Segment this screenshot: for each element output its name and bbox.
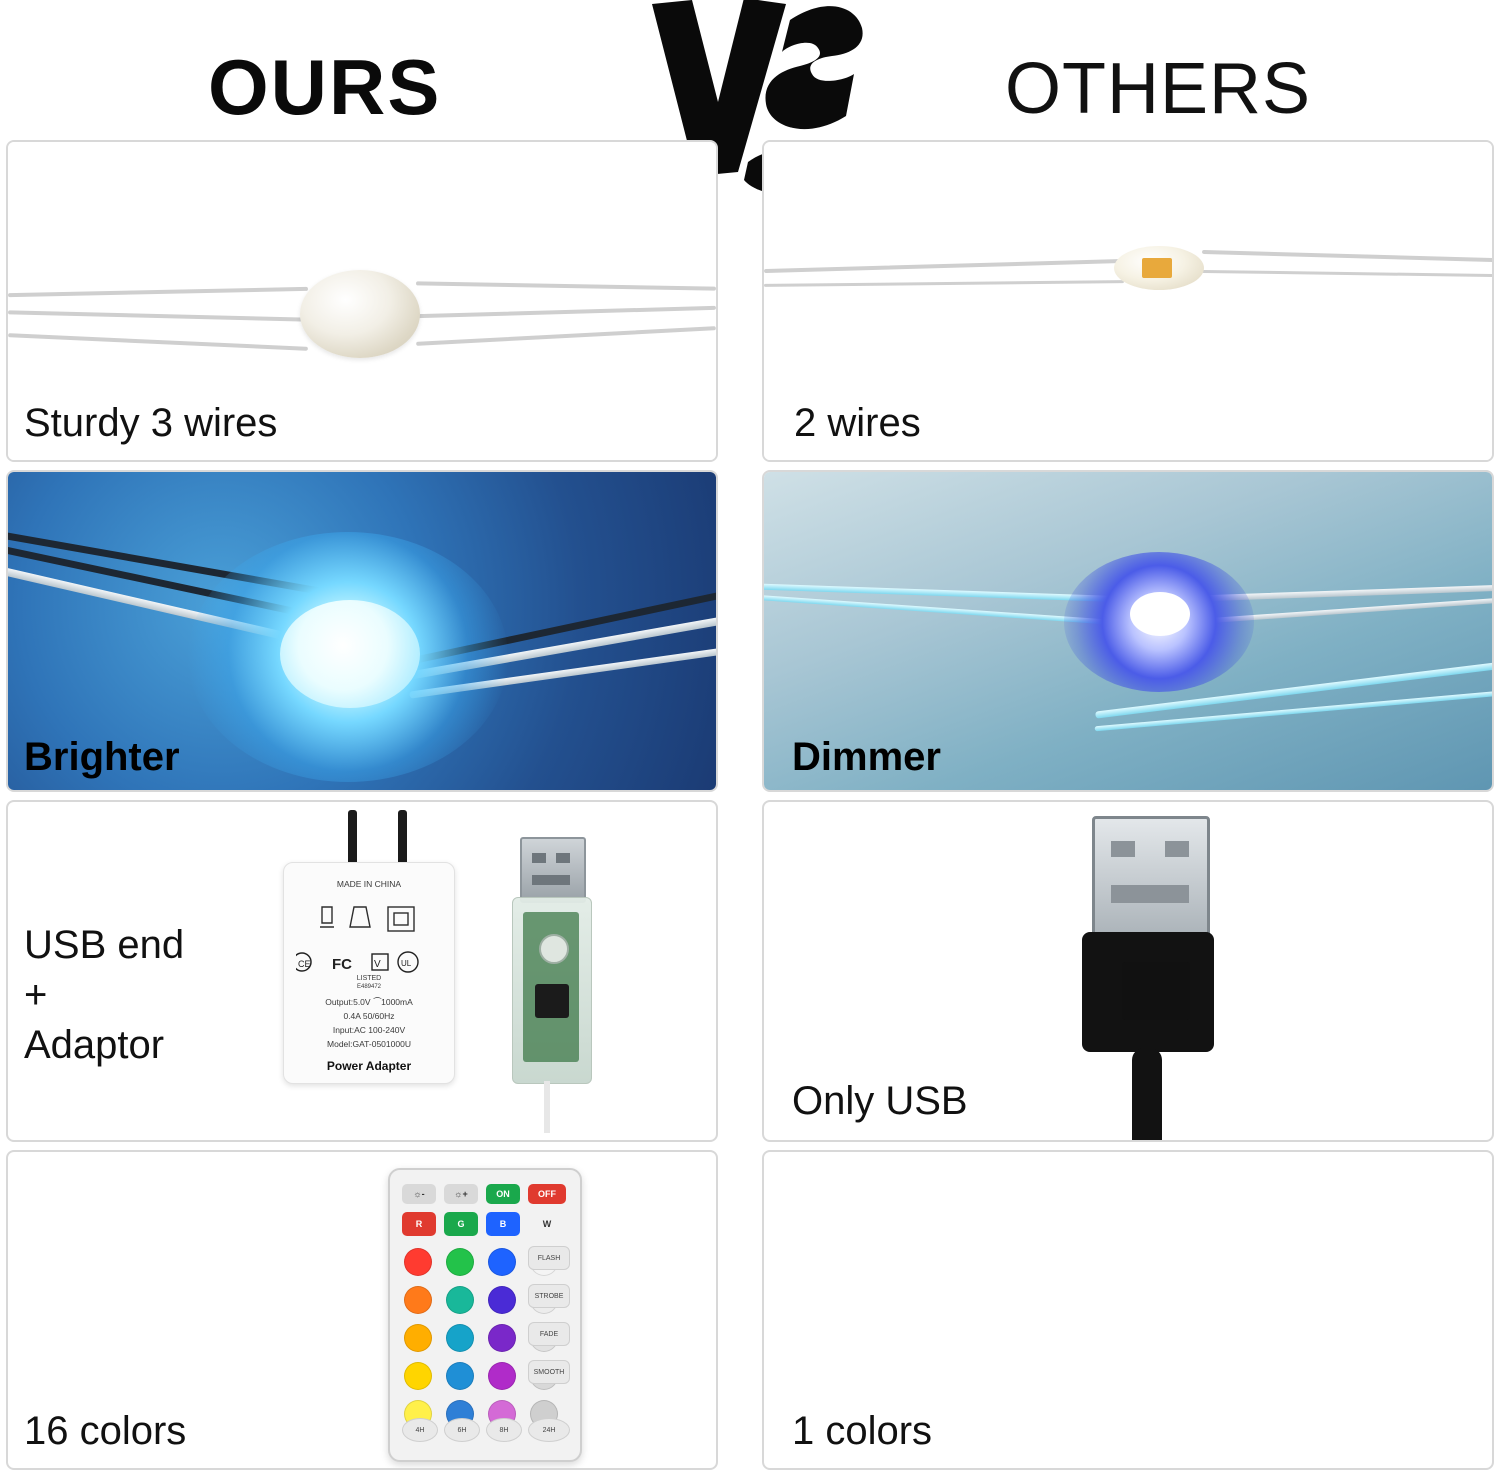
comparison-row-power: MADE IN CHINA: [0, 800, 1500, 1150]
ours-panel-wires: Sturdy 3 wires: [6, 140, 718, 462]
usb-button[interactable]: [539, 934, 569, 964]
caption-others-wires: 2 wires: [794, 401, 921, 446]
others-panel-brightness: Dimmer: [762, 470, 1494, 792]
usb-plug-only: [1074, 816, 1224, 1142]
caption-others-colors: 1 colors: [792, 1409, 932, 1454]
svg-text:UL: UL: [401, 959, 412, 968]
comparison-grid: Sturdy 3 wires 2 wires: [0, 140, 1500, 1480]
others-panel-wires: 2 wires: [762, 140, 1494, 462]
caption-others-power: Only USB: [792, 1079, 968, 1124]
header-ours-title: OURS: [208, 42, 441, 133]
others-panel-colors: ON TIMER OFF MODE 1 2 3 4 5 6 7 8 ☀ ☀ DI…: [762, 1150, 1494, 1470]
power-adapter: MADE IN CHINA: [283, 862, 455, 1084]
remote44-key-24h[interactable]: 24H: [528, 1418, 570, 1442]
caption-ours-wires: Sturdy 3 wires: [24, 401, 277, 446]
remote44-key-4h[interactable]: 4H: [402, 1418, 438, 1442]
svg-text:V: V: [374, 959, 381, 970]
comparison-row-brightness: Brighter Dimmer: [0, 470, 1500, 800]
remote44-color-swatch[interactable]: [404, 1362, 432, 1390]
remote44-key-brightness-up[interactable]: ☼+: [444, 1184, 478, 1204]
remote44-color-swatch[interactable]: [488, 1362, 516, 1390]
remote44-key-on[interactable]: ON: [486, 1184, 520, 1204]
adapter-output: Output:5.0V ⏜1000mA: [292, 997, 446, 1008]
remote44-color-swatch[interactable]: [404, 1324, 432, 1352]
remote44-key-8h[interactable]: 8H: [486, 1418, 522, 1442]
ours-panel-power: MADE IN CHINA: [6, 800, 718, 1142]
usb-controller: [508, 837, 594, 1092]
remote44-key-brightness-down[interactable]: ☼-: [402, 1184, 436, 1204]
adapter-input: Input:AC 100-240V: [292, 1025, 446, 1035]
ours-panel-brightness: Brighter: [6, 470, 718, 792]
adapter-current: 0.4A 50/60Hz: [292, 1011, 446, 1021]
remote44-key-fade[interactable]: FADE: [528, 1322, 570, 1346]
remote44-color-swatch[interactable]: [488, 1324, 516, 1352]
led-bulb-2wire: [1114, 246, 1204, 290]
svg-text:CE: CE: [298, 959, 311, 969]
remote44-color-swatch[interactable]: [488, 1248, 516, 1276]
remote44-color-swatch[interactable]: [488, 1286, 516, 1314]
caption-ours-brightness: Brighter: [24, 735, 180, 780]
remote44-color-swatch[interactable]: [446, 1248, 474, 1276]
remote44-color-swatch[interactable]: [446, 1324, 474, 1352]
remote44-color-swatch[interactable]: [446, 1362, 474, 1390]
remote44-key-smooth[interactable]: SMOOTH: [528, 1360, 570, 1384]
remote44-key-red[interactable]: R: [402, 1212, 436, 1236]
remote44-key-white[interactable]: W: [528, 1212, 566, 1236]
ours-panel-colors: ☼- ☼+ ON OFF R G B W FLASH STROBE FADE S…: [6, 1150, 718, 1470]
caption-ours-power-line1: USB end: [24, 920, 184, 970]
caption-ours-power: USB end + Adaptor: [24, 920, 184, 1070]
remote44-key-flash[interactable]: FLASH: [528, 1246, 570, 1270]
remote44-key-green[interactable]: G: [444, 1212, 478, 1236]
adapter-listed: LISTED: [292, 975, 446, 982]
remote44-key-off[interactable]: OFF: [528, 1184, 566, 1204]
remote44-key-6h[interactable]: 6H: [444, 1418, 480, 1442]
adapter-title: Power Adapter: [292, 1059, 446, 1073]
remote44-color-swatch[interactable]: [446, 1286, 474, 1314]
comparison-row-colors: ☼- ☼+ ON OFF R G B W FLASH STROBE FADE S…: [0, 1150, 1500, 1480]
led-bulb-3wire: [300, 270, 420, 358]
adapter-listed-code: E489472: [292, 984, 446, 990]
usb-plug-icon: [520, 837, 586, 903]
adapter-model: Model:GAT-0501000U: [292, 1039, 446, 1049]
remote44-color-swatch[interactable]: [404, 1248, 432, 1276]
svg-text:FC: FC: [332, 956, 352, 973]
caption-ours-colors: 16 colors: [24, 1409, 186, 1454]
remote44-key-blue[interactable]: B: [486, 1212, 520, 1236]
caption-ours-power-line3: Adaptor: [24, 1020, 184, 1070]
caption-ours-power-line2: +: [24, 970, 184, 1020]
adapter-made-in: MADE IN CHINA: [292, 879, 446, 889]
remote44-key-strobe[interactable]: STROBE: [528, 1284, 570, 1308]
caption-others-brightness: Dimmer: [792, 735, 941, 780]
comparison-header: OURS OTHERS: [0, 0, 1500, 140]
remote-44-key[interactable]: ☼- ☼+ ON OFF R G B W FLASH STROBE FADE S…: [388, 1168, 582, 1462]
comparison-row-wire-count: Sturdy 3 wires 2 wires: [0, 140, 1500, 470]
remote44-color-swatch[interactable]: [404, 1286, 432, 1314]
header-others-title: OTHERS: [1005, 48, 1311, 130]
others-panel-power: Only USB: [762, 800, 1494, 1142]
